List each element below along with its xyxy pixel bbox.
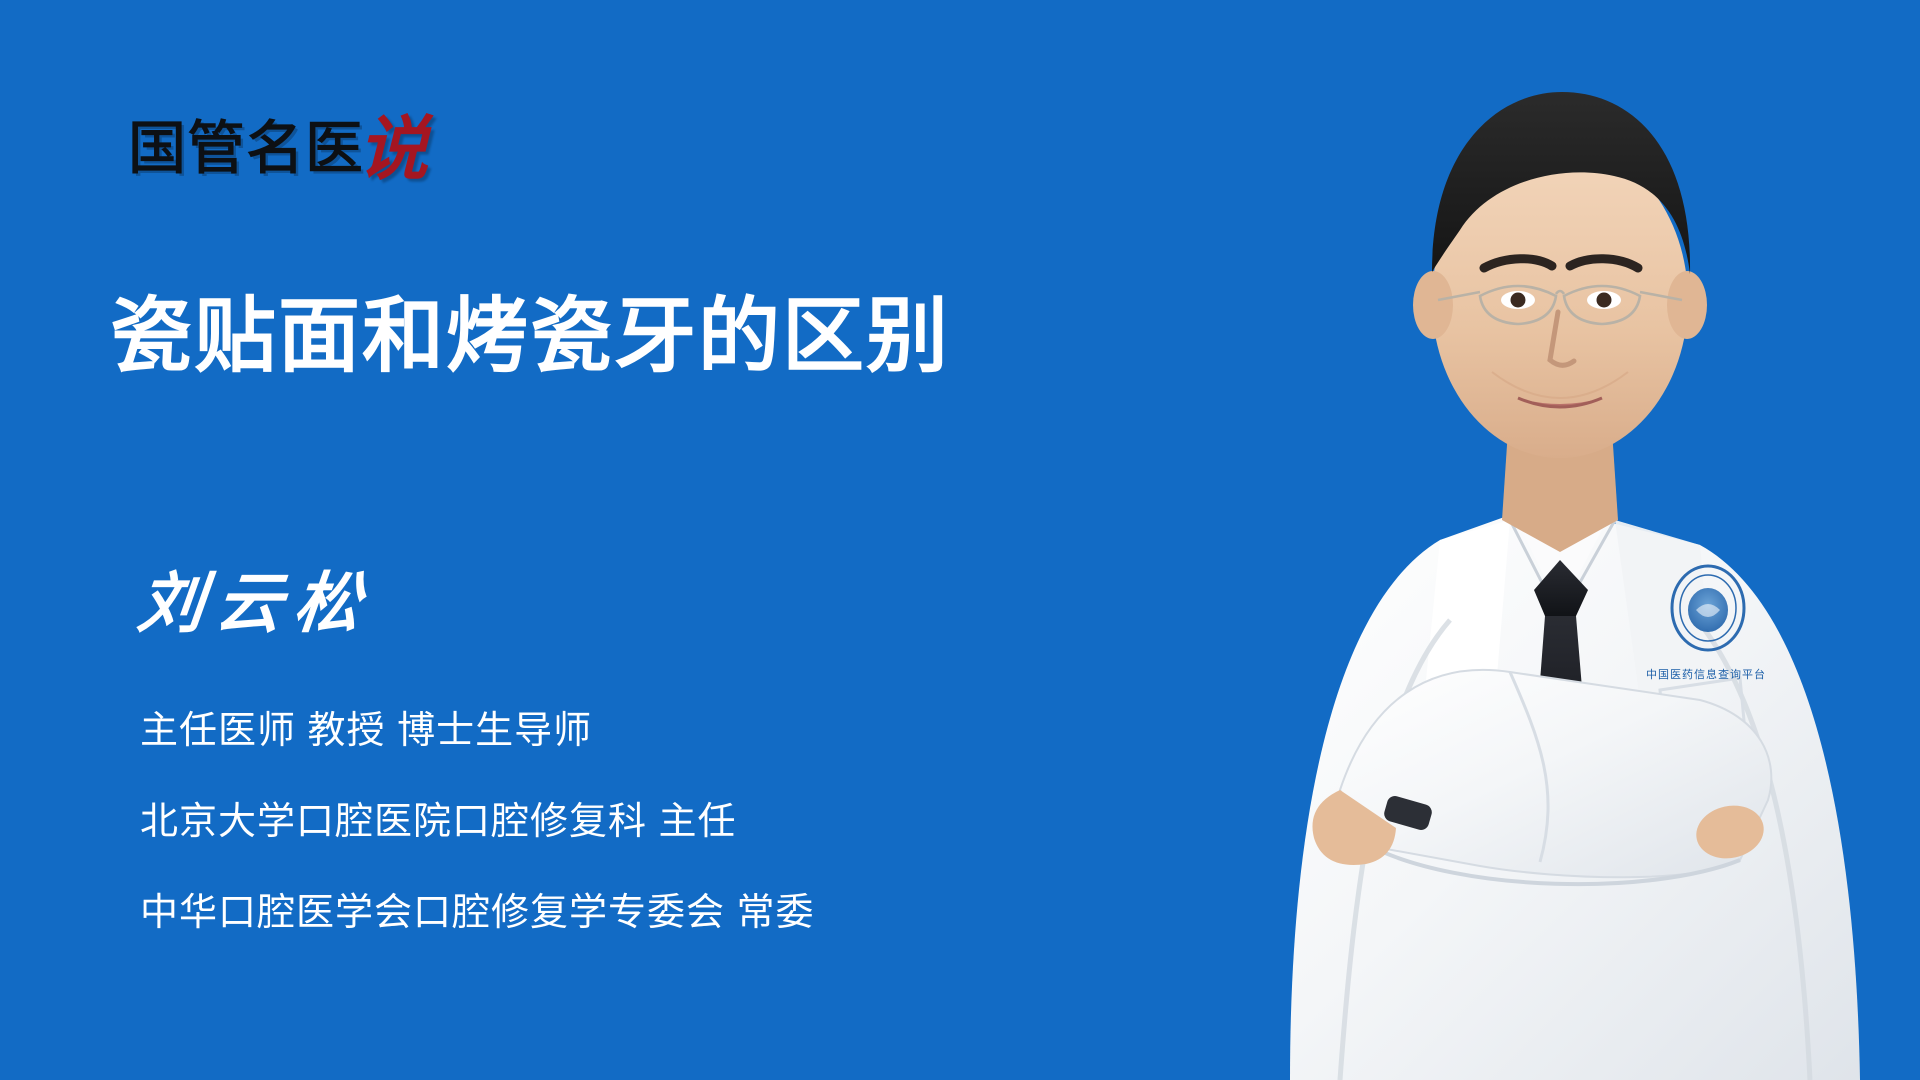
- video-title-card: 国管名医 说 瓷贴面和烤瓷牙的区别 刘云松 主任医师 教授 博士生导师 北京大学…: [0, 0, 1920, 1080]
- credential-line: 中华口腔医学会口腔修复学专委会 常委: [140, 894, 1040, 932]
- crossed-arms: [1312, 670, 1771, 884]
- doctor-name: 刘云松: [135, 572, 376, 638]
- doctor-credentials: 主任医师 教授 博士生导师 北京大学口腔医院口腔修复科 主任 中华口腔医学会口腔…: [140, 712, 1040, 932]
- necktie: [1534, 560, 1588, 790]
- brand-logo: 国管名医 说: [128, 100, 428, 178]
- episode-title: 瓷贴面和烤瓷牙的区别: [110, 293, 950, 382]
- credential-line: 主任医师 教授 博士生导师: [140, 712, 1040, 750]
- eyeglasses: [1438, 286, 1682, 324]
- doctor-portrait-photo: 中国医药信息查询平台: [1040, 0, 1920, 1080]
- credential-line: 北京大学口腔医院口腔修复科 主任: [140, 803, 1040, 841]
- lab-coat-shape: [1290, 512, 1860, 1080]
- coat-badge-label: 中国医药信息查询平台: [1646, 667, 1766, 681]
- brand-logo-accent-text: 说: [358, 118, 428, 185]
- brand-logo-main-text: 国管名医: [128, 120, 364, 178]
- doctor-head: [1413, 92, 1707, 458]
- coat-badge: 中国医药信息查询平台: [1646, 566, 1766, 681]
